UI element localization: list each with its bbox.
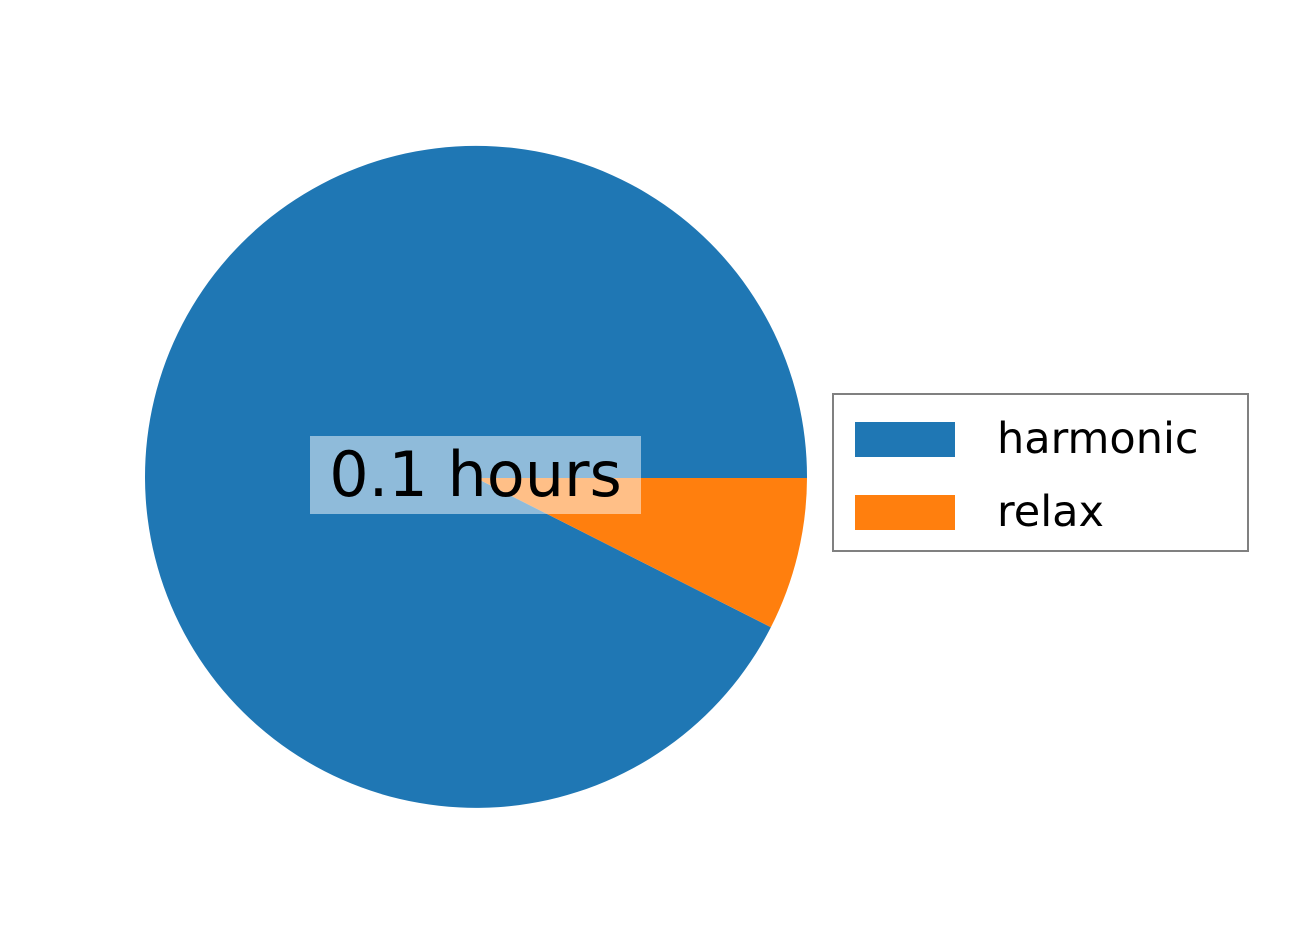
legend-swatch-relax [855,495,955,530]
legend-label-relax: relax [997,491,1104,534]
pie-center-label-text: 0.1 hours [329,444,622,506]
legend-label-harmonic: harmonic [997,418,1199,461]
pie-chart-figure: 0.1 hours harmonic relax [0,0,1307,951]
pie-center-label-box: 0.1 hours [310,436,641,514]
legend-item-relax[interactable]: relax [834,489,1247,535]
chart-legend: harmonic relax [832,393,1249,552]
legend-swatch-harmonic [855,422,955,457]
legend-item-harmonic[interactable]: harmonic [834,416,1247,462]
